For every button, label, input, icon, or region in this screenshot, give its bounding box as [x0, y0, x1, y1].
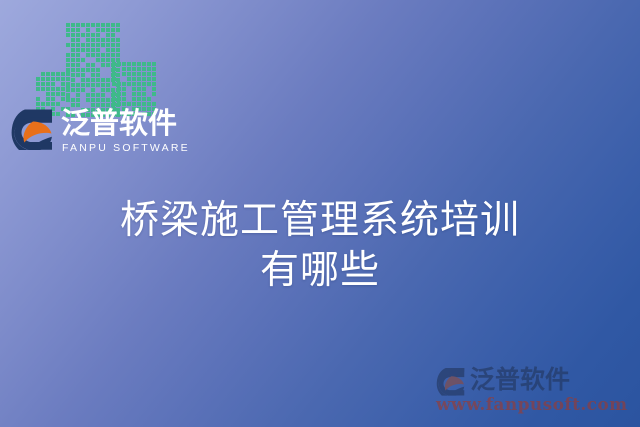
- fanpu-watermark-mark-icon: [436, 367, 468, 397]
- watermark-url: www.fanpusoft.com: [436, 395, 628, 415]
- watermark: 泛普软件 www.fanpusoft.com: [434, 365, 634, 415]
- logo-chinese-name: 泛普软件: [61, 106, 177, 140]
- fanpu-logo-mark-icon: [11, 108, 57, 152]
- promo-banner: 泛普软件 FANPU SOFTWARE 桥梁施工管理系统培训 有哪些 泛普软件 …: [0, 0, 640, 427]
- page-title-line-2: 有哪些: [0, 246, 640, 296]
- page-title: 桥梁施工管理系统培训 有哪些: [0, 196, 640, 296]
- page-title-line-1: 桥梁施工管理系统培训: [0, 196, 640, 246]
- brand-logo: 泛普软件 FANPU SOFTWARE: [11, 106, 157, 158]
- watermark-chinese-name: 泛普软件: [470, 365, 570, 395]
- pixel-city-skyline-icon: [36, 18, 152, 116]
- logo-english-name: FANPU SOFTWARE: [62, 142, 190, 154]
